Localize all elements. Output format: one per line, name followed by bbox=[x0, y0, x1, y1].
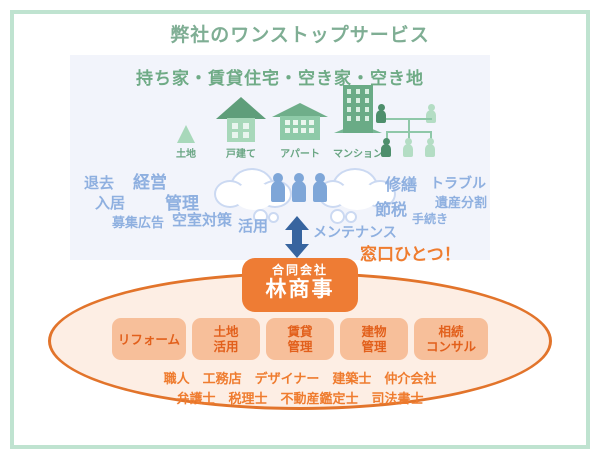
organization-chart-icon bbox=[372, 104, 444, 160]
thought-cloud-left-dot-2 bbox=[268, 212, 279, 223]
service-pill-inheritance-consulting-line2: コンサル bbox=[426, 339, 476, 354]
apartment-icon: アパート bbox=[272, 103, 328, 143]
service-pill-rental-mgmt[interactable]: 賃貸 管理 bbox=[266, 318, 334, 360]
keyword-setsuzei: 節税 bbox=[375, 196, 407, 220]
page-title: 弊社のワンストップサービス bbox=[0, 20, 600, 47]
panel-subtitle: 持ち家・賃貸住宅・空き家・空き地 bbox=[70, 64, 490, 89]
keyword-boshukoukoku: 募集広告 bbox=[112, 212, 164, 231]
double-headed-vertical-arrow bbox=[284, 216, 310, 258]
keyword-nyukyo: 入居 bbox=[95, 192, 125, 213]
service-pill-inheritance-consulting[interactable]: 相続 コンサル bbox=[414, 318, 488, 360]
land-icon-label: 土地 bbox=[176, 145, 196, 160]
service-pill-land-use[interactable]: 土地 活用 bbox=[192, 318, 260, 360]
service-pill-building-mgmt[interactable]: 建物 管理 bbox=[340, 318, 408, 360]
service-pill-rental-mgmt-line2: 管理 bbox=[287, 339, 312, 354]
keyword-tetsuzuki: 手続き bbox=[412, 210, 448, 227]
service-pill-reform[interactable]: リフォーム bbox=[112, 318, 186, 360]
land-icon: 土地 bbox=[164, 125, 208, 143]
people-group-icon bbox=[271, 173, 331, 207]
keyword-shuzen: 修繕 bbox=[385, 171, 417, 195]
service-pill-building-mgmt-line2: 管理 bbox=[361, 339, 386, 354]
one-window-callout: 窓口ひとつ！ bbox=[360, 240, 461, 265]
service-pill-land-use-line2: 活用 bbox=[213, 339, 238, 354]
service-pill-reform-line1: リフォーム bbox=[118, 332, 180, 347]
keyword-isanbunkatsu: 遺産分割 bbox=[435, 192, 487, 211]
property-icon-row: 土地 戸建て アパート bbox=[160, 104, 365, 159]
keyword-trouble: トラブル bbox=[430, 173, 486, 193]
company-type: 合同会社 bbox=[242, 263, 358, 277]
keyword-kushitsutaisaku: 空室対策 bbox=[172, 209, 232, 230]
infographic-canvas: 弊社のワンストップサービス 持ち家・賃貸住宅・空き家・空き地 土地 戸建て bbox=[0, 0, 600, 459]
apartment-icon-label: アパート bbox=[280, 145, 320, 160]
keyword-taikyo: 退去 bbox=[84, 172, 114, 193]
detached-house-icon-label: 戸建て bbox=[226, 145, 256, 160]
service-pill-land-use-line1: 土地 bbox=[213, 324, 238, 339]
keyword-keiei: 経営 bbox=[133, 168, 167, 193]
keyword-katsuyo: 活用 bbox=[238, 215, 268, 236]
keyword-maintenance: メンテナンス bbox=[313, 222, 397, 242]
service-pill-inheritance-consulting-line1: 相続 bbox=[438, 324, 463, 339]
service-pill-building-mgmt-line1: 建物 bbox=[361, 324, 386, 339]
partner-list-line-2: 弁護士 税理士 不動産鑑定士 司法書士 bbox=[0, 390, 600, 410]
partner-list: 職人 工務店 デザイナー 建築士 仲介会社 弁護士 税理士 不動産鑑定士 司法書… bbox=[0, 370, 600, 410]
detached-house-icon: 戸建て bbox=[216, 97, 266, 143]
service-pill-rental-mgmt-line1: 賃貸 bbox=[287, 324, 312, 339]
company-badge: 合同会社 林商事 bbox=[242, 258, 358, 312]
partner-list-line-1: 職人 工務店 デザイナー 建築士 仲介会社 bbox=[0, 370, 600, 390]
service-pill-row: リフォーム 土地 活用 賃貸 管理 建物 管理 相続 コンサル bbox=[112, 318, 488, 362]
company-name: 林商事 bbox=[242, 277, 358, 301]
